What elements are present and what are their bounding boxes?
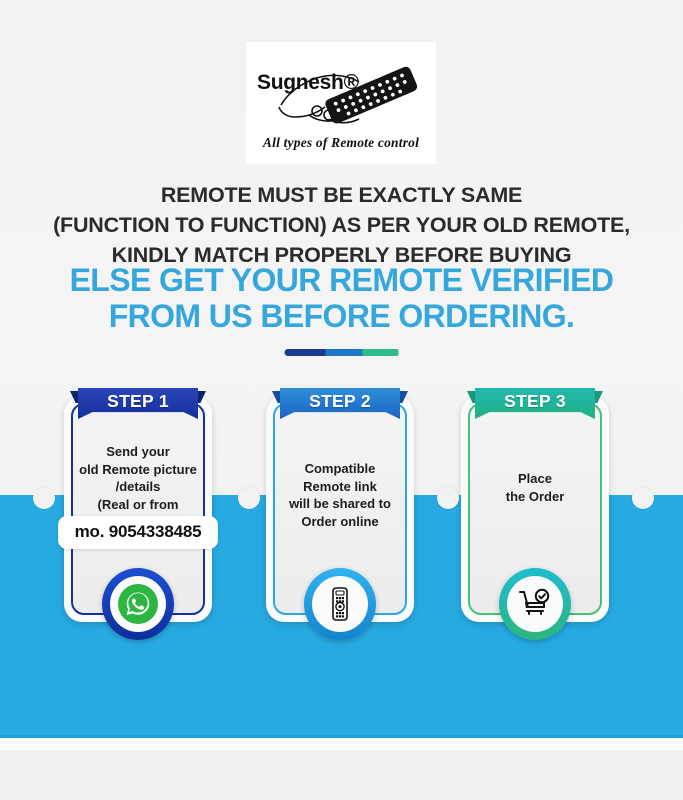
- divider-segment-2: [325, 349, 362, 356]
- step-2-text: Compatible Remote link will be shared to…: [276, 460, 404, 530]
- step-1-icon-inner: [110, 576, 166, 632]
- whatsapp-phone-number[interactable]: mo. 9054338485: [58, 516, 218, 549]
- step-card-1[interactable]: STEP 1 Send your old Remote picture /det…: [64, 388, 212, 638]
- step-card-2[interactable]: STEP 2 Compatible Remote link will be sh…: [266, 388, 414, 638]
- warning-line-1: REMOTE MUST BE EXACTLY SAME: [0, 180, 683, 210]
- connector-dot: [437, 487, 459, 509]
- page-footer-area: [0, 750, 683, 800]
- remote-control-icon: [321, 585, 359, 623]
- step-card-3[interactable]: STEP 3 Place the Order: [461, 388, 609, 638]
- connector-dot: [632, 487, 654, 509]
- poster-root: Sugnesh®: [0, 0, 683, 800]
- step-3-icon-inner: [507, 576, 563, 632]
- divider-bar: [284, 349, 399, 356]
- connector-dot: [238, 487, 260, 509]
- connector-dot: [33, 487, 55, 509]
- warning-heading: REMOTE MUST BE EXACTLY SAME (FUNCTION TO…: [0, 180, 683, 270]
- verify-line-2: FROM US BEFORE ORDERING.: [0, 298, 683, 334]
- divider-segment-1: [284, 349, 325, 356]
- verify-line-1: ELSE GET YOUR REMOTE VERIFIED: [0, 262, 683, 298]
- verify-heading: ELSE GET YOUR REMOTE VERIFIED FROM US BE…: [0, 262, 683, 334]
- logo-artwork: Sugnesh®: [251, 55, 431, 133]
- step-1-icon-bubble[interactable]: [102, 568, 174, 640]
- warning-line-2: (FUNCTION TO FUNCTION) AS PER YOUR OLD R…: [0, 210, 683, 240]
- step-2-icon-inner: [312, 576, 368, 632]
- brand-logo: Sugnesh®: [246, 42, 436, 164]
- step-2-icon-bubble[interactable]: [304, 568, 376, 640]
- step-3-icon-bubble[interactable]: [499, 568, 571, 640]
- divider-segment-3: [362, 349, 399, 356]
- whatsapp-icon: [117, 583, 159, 625]
- shopping-cart-check-icon: [516, 585, 554, 623]
- brand-tagline: All types of Remote control: [263, 135, 419, 151]
- step-3-text: Place the Order: [471, 470, 599, 505]
- band-white-strip: [0, 738, 683, 750]
- brand-name: Sugnesh®: [257, 71, 359, 95]
- steps-container: STEP 1 Send your old Remote picture /det…: [0, 388, 683, 648]
